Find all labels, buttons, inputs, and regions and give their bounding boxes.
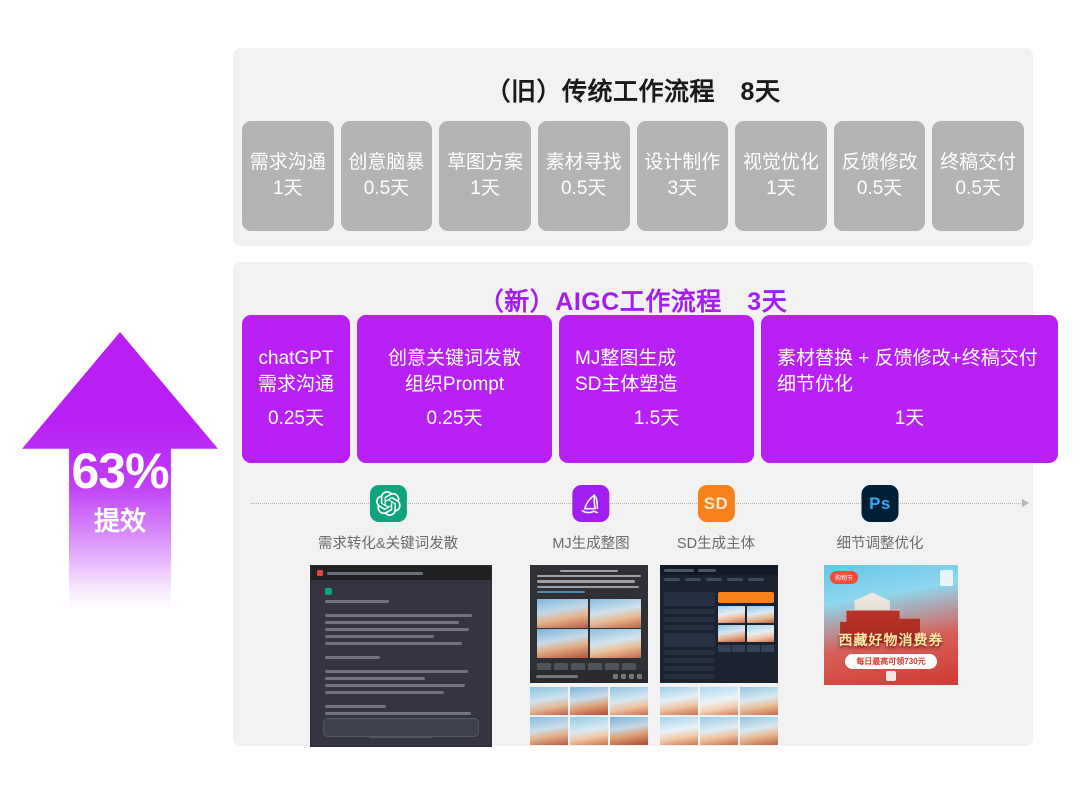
old-workflow-panel: （旧）传统工作流程 8天 需求沟通1天创意脑暴0.5天草图方案1天素材寻找0.5…	[233, 48, 1033, 246]
old-step-days: 0.5天	[857, 176, 902, 202]
old-step-label: 素材寻找	[546, 150, 622, 176]
midjourney-prompt-text	[530, 565, 648, 599]
old-step-days: 0.5天	[955, 176, 1000, 202]
new-step-line2: 需求沟通	[258, 372, 334, 398]
old-step-label: 设计制作	[644, 150, 720, 176]
old-step-box: 草图方案1天	[439, 121, 531, 231]
tool-item: SDSD生成主体	[677, 485, 755, 553]
old-step-box: 视觉优化1天	[735, 121, 827, 231]
sd-preview-column	[718, 592, 774, 683]
banner-corner-tag	[940, 570, 953, 586]
tool-pipeline-row: 需求转化&关键词发散MJ生成整图SDSD生成主体Ps细节调整优化	[233, 477, 1033, 537]
new-step-line1: 素材替换 + 反馈修改+终稿交付	[777, 346, 1042, 372]
midjourney-image-grid	[530, 599, 648, 659]
new-step-days: 0.25天	[258, 406, 334, 432]
chatgpt-screenshot-thumb	[310, 565, 492, 747]
chatgpt-message-body	[311, 580, 491, 736]
new-step-box: 素材替换 + 反馈修改+终稿交付细节优化1天	[761, 315, 1058, 463]
new-step-days: 1天	[777, 406, 1042, 432]
new-step-box: MJ整图生成SD主体塑造1.5天	[559, 315, 754, 463]
sd-generate-button[interactable]	[718, 592, 774, 603]
new-step-line2: 细节优化	[777, 372, 1042, 398]
banner-logo-icon	[886, 671, 896, 681]
banner-title: 西藏好物消费券	[824, 630, 958, 650]
midjourney-icon	[573, 485, 610, 522]
old-step-label: 需求沟通	[250, 150, 326, 176]
new-step-box: chatGPT需求沟通0.25天	[242, 315, 350, 463]
chatgpt-icon	[369, 485, 406, 522]
midjourney-bottom-bar	[530, 670, 648, 683]
sd-main-body	[660, 589, 778, 683]
chatgpt-topbar-title	[327, 572, 423, 575]
old-step-label: 视觉优化	[743, 150, 819, 176]
tool-caption: SD生成主体	[677, 532, 755, 553]
old-workflow-steps: 需求沟通1天创意脑暴0.5天草图方案1天素材寻找0.5天设计制作3天视觉优化1天…	[242, 121, 1024, 231]
old-step-label: 终稿交付	[940, 150, 1016, 176]
photoshop-icon: Ps	[862, 485, 899, 522]
new-workflow-panel: （新）AIGC工作流程 3天 chatGPT需求沟通0.25天创意关键词发散组织…	[233, 262, 1033, 746]
new-step-line1: chatGPT	[258, 346, 334, 372]
new-step-line1: 创意关键词发散	[373, 346, 536, 372]
chatgpt-topbar-dot-icon	[317, 570, 323, 576]
chatgpt-avatar	[325, 588, 332, 595]
old-step-box: 设计制作3天	[637, 121, 729, 231]
new-step-days: 1.5天	[575, 406, 738, 432]
chatgpt-topbar	[311, 566, 491, 580]
new-workflow-steps: chatGPT需求沟通0.25天创意关键词发散组织Prompt0.25天MJ整图…	[242, 315, 1024, 463]
sd-settings-column[interactable]	[664, 592, 715, 683]
old-step-days: 1天	[273, 176, 303, 202]
midjourney-result-strip	[530, 687, 648, 745]
tool-item: 需求转化&关键词发散	[318, 485, 458, 553]
old-step-days: 3天	[668, 176, 698, 202]
sd-result-strip	[660, 687, 778, 745]
old-step-label: 反馈修改	[842, 150, 918, 176]
efficiency-label: 提效	[22, 508, 218, 534]
new-step-line1: MJ整图生成	[575, 346, 738, 372]
connector-arrow-icon	[1022, 499, 1029, 507]
new-step-days: 0.25天	[373, 406, 536, 432]
new-step-box: 创意关键词发散组织Prompt0.25天	[357, 315, 552, 463]
efficiency-percent: 63%	[22, 446, 218, 496]
new-workflow-title: （新）AIGC工作流程 3天	[233, 290, 1033, 315]
tool-caption: 细节调整优化	[837, 532, 924, 553]
new-step-line2: 组织Prompt	[373, 372, 536, 398]
old-step-days: 0.5天	[561, 176, 606, 202]
tool-item: Ps细节调整优化	[837, 485, 924, 553]
old-step-box: 反馈修改0.5天	[834, 121, 926, 231]
stable-diffusion-icon: SD	[698, 485, 735, 522]
old-step-box: 创意脑暴0.5天	[341, 121, 433, 231]
screenshot-thumbnails: 购物节 西藏好物消费券 每日最高可领730元	[233, 565, 1033, 745]
chatgpt-input-box[interactable]	[323, 718, 479, 737]
old-step-days: 0.5天	[364, 176, 409, 202]
tool-caption: MJ生成整图	[552, 532, 629, 553]
old-step-box: 终稿交付0.5天	[932, 121, 1024, 231]
old-step-box: 需求沟通1天	[242, 121, 334, 231]
tool-caption: 需求转化&关键词发散	[318, 532, 458, 553]
old-step-label: 草图方案	[447, 150, 523, 176]
new-step-line2: SD主体塑造	[575, 372, 738, 398]
old-step-days: 1天	[470, 176, 500, 202]
banner-badge: 购物节	[830, 571, 858, 584]
sd-tabs[interactable]	[660, 575, 778, 589]
old-step-days: 1天	[766, 176, 796, 202]
old-step-box: 素材寻找0.5天	[538, 121, 630, 231]
banner-subtitle: 每日最高可领730元	[845, 654, 936, 669]
final-banner-thumb: 购物节 西藏好物消费券 每日最高可领730元	[824, 565, 958, 685]
old-step-label: 创意脑暴	[348, 150, 424, 176]
old-workflow-title: （旧）传统工作流程 8天	[233, 80, 1033, 105]
sd-preview-grid	[718, 606, 774, 642]
stable-diffusion-screenshot-thumb	[660, 565, 778, 683]
tool-item: MJ生成整图	[552, 485, 629, 553]
midjourney-screenshot-thumb	[530, 565, 648, 683]
sd-titlebar	[660, 565, 778, 575]
efficiency-arrow: 63% 提效	[22, 332, 218, 610]
